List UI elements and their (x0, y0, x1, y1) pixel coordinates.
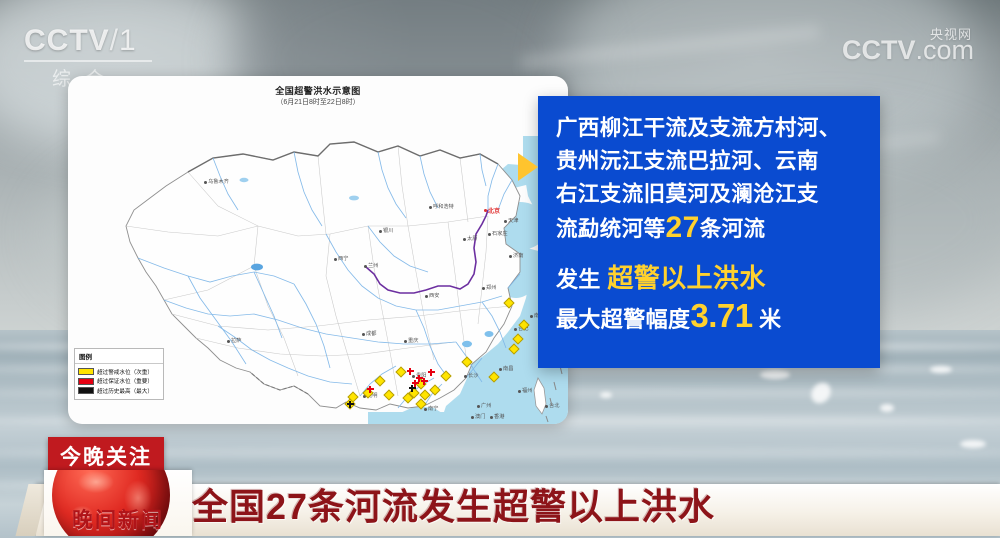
city-dot (530, 315, 533, 318)
city-dot (364, 265, 367, 268)
city-dot (424, 408, 427, 411)
legend-swatch (78, 378, 94, 385)
city-label: 石家庄 (492, 230, 508, 237)
legend-label: 超过警戒水位（次重） (97, 368, 153, 376)
city-label: 长沙 (468, 372, 478, 379)
max-exceed-value: 3.71 (690, 297, 752, 334)
legend-swatch (78, 368, 94, 375)
lower-third: 全国27条河流发生超警以上洪水 今晚关注 晚间新闻 (0, 430, 1000, 538)
city-label: 成都 (366, 330, 376, 337)
city-dot (404, 340, 407, 343)
city-dot (334, 258, 337, 261)
broadcast-frame: CCTV/1 综合 央视网 CCTV.com 全国超警洪水示意图 （6月21日8… (0, 0, 1000, 538)
channel-logo-text: CCTV (24, 24, 110, 57)
info-panel: 广西柳江干流及支流方村河、 贵州沅江支流巴拉河、云南 右江支流旧莫河及澜沧江支 … (538, 96, 880, 368)
city-dot (504, 220, 507, 223)
flood-marker-record (347, 401, 354, 408)
city-dot (429, 206, 432, 209)
city-dot (490, 416, 493, 419)
flood-marker-record (409, 385, 416, 392)
river-count-value: 27 (666, 211, 700, 244)
city-label: 南宁 (428, 405, 438, 412)
city-label: 天津 (508, 217, 518, 224)
program-name: 晚间新闻 (44, 504, 192, 534)
panel-line-3: 右江支流旧莫河及澜沧江支 (556, 178, 864, 211)
city-label: 济南 (513, 252, 523, 259)
city-label: 兰州 (368, 262, 378, 269)
city-dot (545, 405, 548, 408)
legend-item: 超过历史最高（最大） (78, 387, 160, 395)
legend-header: 图例 (75, 349, 163, 364)
city-label: 南昌 (503, 365, 513, 372)
watermark: 央视网 CCTV.com (842, 28, 974, 64)
city-label: 西宁 (338, 255, 348, 262)
city-label: 香港 (494, 413, 504, 420)
city-label: 台北 (549, 402, 559, 409)
program-globe-icon: 晚间新闻 (44, 470, 192, 536)
panel-line-6: 最大超警幅度3.71 米 (556, 298, 864, 338)
map-card: 全国超警洪水示意图 （6月21日8时至22日8时） (68, 76, 568, 424)
watermark-main-label: CCTV (842, 35, 916, 65)
city-dot (488, 233, 491, 236)
city-label: 西安 (429, 292, 439, 299)
city-label: 福州 (522, 387, 532, 394)
city-dot (477, 405, 480, 408)
city-label: 澳门 (475, 413, 485, 420)
city-dot (204, 181, 207, 184)
city-dot (425, 295, 428, 298)
panel-line-6-prefix: 最大超警幅度 (556, 307, 690, 332)
city-label: 重庆 (408, 337, 418, 344)
panel-pointer-icon (518, 153, 538, 181)
city-dot (471, 416, 474, 419)
city-dot (499, 368, 502, 371)
panel-line-1: 广西柳江干流及支流方村河、 (556, 112, 864, 145)
channel-logo-divider (24, 60, 152, 62)
legend-item: 超过警戒水位（次重） (78, 368, 160, 376)
flood-marker-guarantee (428, 369, 435, 376)
city-dot (482, 287, 485, 290)
city-dot (514, 328, 517, 331)
city-label: 乌鲁木齐 (208, 178, 229, 185)
legend-item: 超过保证水位（重要） (78, 377, 160, 385)
city-label: 郑州 (486, 284, 496, 291)
city-dot (463, 238, 466, 241)
headline-text: 全国27条河流发生超警以上洪水 (192, 478, 715, 530)
panel-line-4-prefix: 流勐统河等 (556, 217, 666, 241)
city-dot (379, 230, 382, 233)
city-dot (227, 340, 230, 343)
panel-line-2: 贵州沅江支流巴拉河、云南 (556, 145, 864, 178)
panel-line-5-prefix: 发生 (556, 267, 601, 292)
panel-line-4: 流勐统河等27条河流 (556, 211, 864, 246)
city-label: 北京 (488, 206, 500, 215)
flood-marker-guarantee (367, 386, 374, 393)
city-dot (412, 375, 415, 378)
map-legend: 图例 超过警戒水位（次重）超过保证水位（重要）超过历史最高（最大） (74, 348, 164, 400)
city-dot (518, 390, 521, 393)
city-dot (484, 209, 487, 212)
city-label: 拉萨 (231, 337, 241, 344)
panel-line-6-unit: 米 (759, 307, 781, 332)
channel-logo: CCTV/1 (24, 26, 137, 56)
flood-marker-guarantee (407, 368, 414, 375)
legend-label: 超过保证水位（重要） (97, 377, 153, 385)
flood-level-highlight: 超警以上洪水 (607, 263, 765, 293)
city-dot (509, 255, 512, 258)
channel-logo-number: 1 (119, 24, 137, 57)
city-label: 呼和浩特 (433, 203, 454, 210)
city-label: 银川 (383, 227, 393, 234)
legend-label: 超过历史最高（最大） (97, 387, 153, 395)
flood-marker-guarantee (421, 378, 428, 385)
city-label: 广州 (481, 402, 491, 409)
watermark-domain-label: .com (915, 35, 974, 65)
city-dot (362, 333, 365, 336)
legend-swatch (78, 387, 94, 394)
panel-line-5: 发生 超警以上洪水 (556, 260, 864, 298)
city-dot (464, 375, 467, 378)
panel-line-4-suffix: 条河流 (700, 217, 766, 241)
city-label: 太原 (467, 235, 477, 242)
